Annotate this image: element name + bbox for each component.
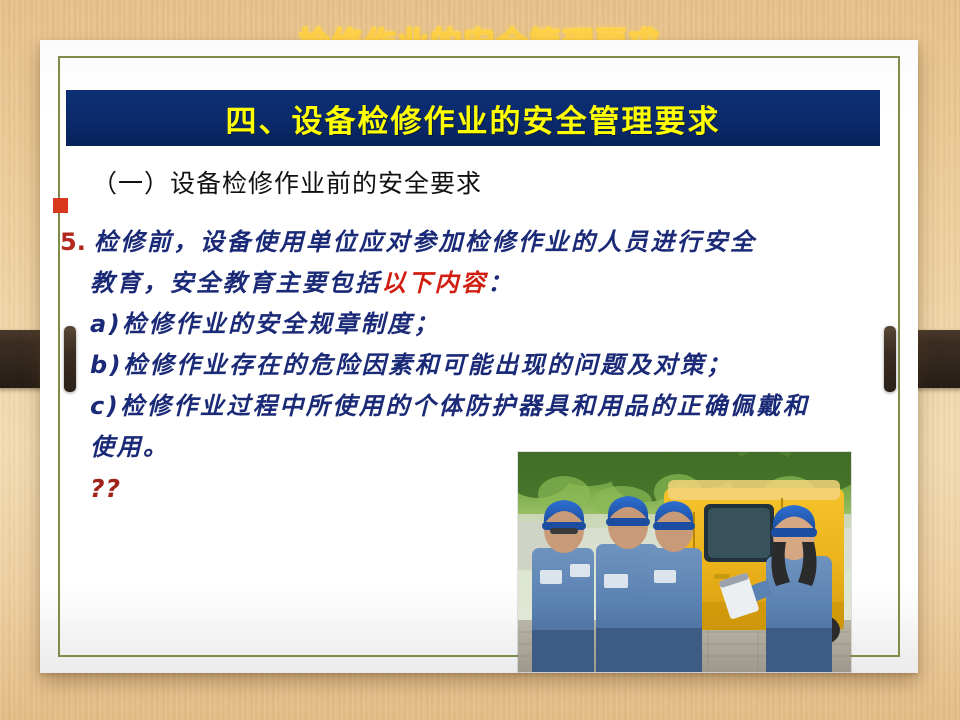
body-line-5-text: 检修前，设备使用单位应对参加检修作业的人员进行安全: [94, 228, 757, 256]
body-line-2-post: ：: [488, 269, 515, 297]
body-item-b: b)检修作业存在的危险因素和可能出现的问题及对策；: [60, 345, 898, 386]
left-strap-cap: [64, 326, 76, 392]
section-heading-text: 四、设备检修作业的安全管理要求: [226, 96, 721, 141]
right-strap-cap: [884, 326, 896, 392]
body-item-c: c)检修作业过程中所使用的个体防护器具和用品的正确佩戴和: [60, 386, 898, 427]
red-square-marker: [53, 198, 68, 213]
section-heading-bar: 四、设备检修作业的安全管理要求: [66, 90, 880, 146]
slide-root: 检修作业的安全管理要求 四、设备检修作业的安全管理要求 （一）设备检修作业前的安…: [0, 0, 960, 720]
photo-illustration: [518, 452, 851, 672]
sub-heading-text: （一）设备检修作业前的安全要求: [92, 164, 482, 200]
body-line-2-pre: 教育，安全教育主要包括: [90, 269, 382, 297]
list-number: 5.: [60, 228, 94, 256]
worker-3: [646, 501, 702, 672]
body-line-5: 5.检修前，设备使用单位应对参加检修作业的人员进行安全: [60, 222, 898, 263]
body-item-a: a)检修作业的安全规章制度；: [60, 304, 898, 345]
body-line-continued: 教育，安全教育主要包括以下内容：: [60, 263, 898, 304]
worker-safety-photo: [518, 452, 851, 672]
body-line-2-emphasis: 以下内容: [382, 269, 488, 297]
